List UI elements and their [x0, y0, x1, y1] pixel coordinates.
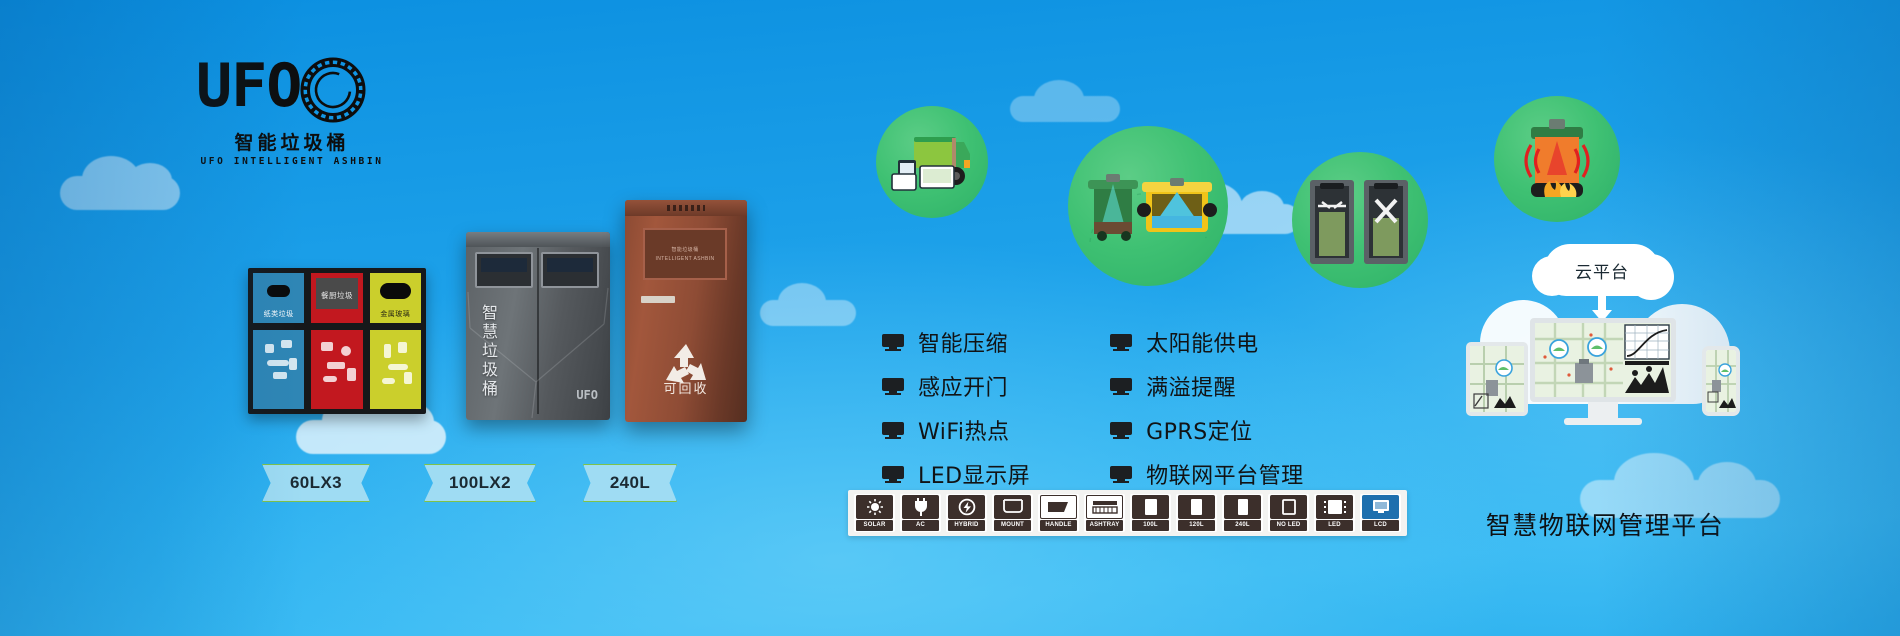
spec-icon-label: LED [1316, 520, 1353, 531]
feature-item: 智能压缩 [882, 326, 1030, 358]
capacity-120l-icon [1178, 495, 1215, 519]
feature-label: 太阳能供电 [1146, 326, 1259, 358]
feature-column-1: 智能压缩 感应开门 WiFi热点 LED显示屏 [882, 326, 1030, 490]
ac-plug-icon [902, 495, 939, 519]
compartment-label: 餐厨垃圾 [316, 290, 357, 301]
feature-item: LED显示屏 [882, 458, 1030, 490]
cloud-decoration [760, 300, 856, 326]
spec-icon-lcd[interactable]: LCD [1360, 494, 1401, 532]
feature-label: 智能压缩 [918, 326, 1008, 358]
logo-chinese-name: 智能垃圾桶 [196, 128, 388, 155]
fill-level-sensor-icon [1068, 126, 1228, 286]
monitor-bullet-icon [882, 466, 904, 483]
capacity-label-240l: 240L [583, 464, 677, 502]
feature-list: 智能压缩 感应开门 WiFi热点 LED显示屏 太阳能供电 满溢提醒 [882, 326, 1304, 490]
bin-slot-oval [267, 285, 290, 297]
bin-brand-mark: UFO [576, 388, 598, 402]
cloud-decoration [296, 420, 446, 454]
wall-mount-icon [994, 495, 1031, 519]
compartment-label: 纸类垃圾 [253, 309, 304, 319]
spec-icon-mount[interactable]: MOUNT [992, 494, 1033, 532]
feature-item: 满溢提醒 [1110, 370, 1304, 402]
compartment-label: 金属玻璃 [370, 309, 421, 319]
spec-icon-label: AC [902, 520, 939, 531]
feature-item: 物联网平台管理 [1110, 458, 1304, 490]
lcd-screen-icon [1362, 495, 1399, 519]
triple-recycling-bin: 纸类垃圾 餐厨垃圾 [248, 268, 426, 414]
spec-icon-label: 100L [1132, 520, 1169, 531]
spec-icon-hybrid[interactable]: HYBRID [946, 494, 987, 532]
cloud-platform-label: 云平台 [1544, 244, 1660, 296]
feature-item: 感应开门 [882, 370, 1030, 402]
fire-alarm-icon [1494, 96, 1620, 222]
spec-icon-no-led[interactable]: NO LED [1268, 494, 1309, 532]
spec-icon-label: 240L [1224, 520, 1261, 531]
hybrid-power-icon [948, 495, 985, 519]
feature-item: GPRS定位 [1110, 414, 1304, 446]
monitor-bullet-icon [882, 378, 904, 395]
logo-wordmark: UFO [196, 58, 301, 114]
led-screen-icon [1316, 495, 1353, 519]
feature-label: 物联网平台管理 [1146, 458, 1304, 490]
bin-info-panel: 智能垃圾桶 INTELLIGENT ASHBIN [643, 228, 727, 280]
smartphone-device [1702, 346, 1740, 416]
platform-title: 智慧物联网管理平台 [1440, 506, 1770, 542]
spec-icon-handle[interactable]: HANDLE [1038, 494, 1079, 532]
spec-icon-label: SOLAR [856, 520, 893, 531]
bin-lid [625, 200, 747, 216]
feature-circle-compaction [1292, 152, 1428, 288]
spec-icon-240l[interactable]: 240L [1222, 494, 1263, 532]
logo-english-name: UFO INTELLIGENT ASHBIN [196, 156, 388, 167]
feature-label: LED显示屏 [918, 458, 1030, 490]
compaction-unit-icon [1292, 152, 1428, 288]
monitor-stand [1588, 402, 1618, 418]
monitor-bullet-icon [882, 422, 904, 439]
spec-icon-label: NO LED [1270, 520, 1307, 531]
monitor-bullet-icon [1110, 378, 1132, 395]
monitor-base [1564, 418, 1642, 425]
monitor-bullet-icon [882, 334, 904, 351]
bin-card-slot [641, 296, 675, 303]
spec-icon-label: HYBRID [948, 520, 985, 531]
tablet-device [1466, 342, 1528, 416]
handle-icon [1040, 495, 1077, 519]
spec-icon-label: 120L [1178, 520, 1215, 531]
feature-circle-truck-fleet [876, 106, 988, 218]
brand-logo: UFO 智能垃圾桶 UFO INTELLIGENT ASHBIN [196, 58, 406, 152]
product-banner: UFO 智能垃圾桶 UFO INTELLIGENT ASHBIN [0, 0, 1900, 636]
feature-label: 感应开门 [918, 370, 1008, 402]
ashtray-icon [1086, 495, 1123, 519]
capacity-100l-icon [1132, 495, 1169, 519]
monitor-screen [1530, 318, 1676, 402]
monitor-bullet-icon [1110, 466, 1132, 483]
feature-circle-fill-level [1068, 126, 1228, 286]
garbage-truck-fleet-icon [876, 106, 988, 218]
monitor-bullet-icon [1110, 422, 1132, 439]
feature-label: 满溢提醒 [1146, 370, 1236, 402]
spec-icon-solar[interactable]: SOLAR [854, 494, 895, 532]
iot-platform-illustration: 云平台 [1452, 238, 1752, 438]
feature-column-2: 太阳能供电 满溢提醒 GPRS定位 物联网平台管理 [1110, 326, 1304, 490]
recycle-label: 可回收 [625, 378, 747, 397]
bin-vertical-label: 智慧垃圾桶 [482, 304, 504, 399]
spec-icon-strip: SOLAR AC HYBRID [848, 490, 1407, 536]
ring-o-icon [299, 56, 367, 124]
bin-slot-cloud [380, 283, 411, 299]
no-led-icon [1270, 495, 1307, 519]
cloud-decoration [1010, 96, 1120, 122]
double-smart-bin: 智慧垃圾桶 UFO [466, 232, 610, 420]
spec-icon-ac[interactable]: AC [900, 494, 941, 532]
capacity-240l-icon [1224, 495, 1261, 519]
panel-line-2: INTELLIGENT ASHBIN [655, 256, 714, 262]
spec-icon-ashtray[interactable]: ASHTRAY [1084, 494, 1125, 532]
spec-icon-led[interactable]: LED [1314, 494, 1355, 532]
spec-icon-label: ASHTRAY [1086, 520, 1123, 531]
spec-icon-100l[interactable]: 100L [1130, 494, 1171, 532]
bin-compartment-kitchen: 餐厨垃圾 [309, 271, 364, 411]
feature-label: WiFi热点 [918, 414, 1010, 446]
capacity-label-100lx2: 100LX2 [424, 464, 536, 502]
bin-compartment-paper: 纸类垃圾 [251, 271, 306, 411]
spec-icon-label: HANDLE [1040, 520, 1077, 531]
capacity-label-60lx3: 60LX3 [262, 464, 370, 502]
cloud-decoration [60, 176, 180, 210]
solar-panel-icon [856, 495, 893, 519]
bin-window: 餐厨垃圾 [316, 278, 357, 309]
feature-item: 太阳能供电 [1110, 326, 1304, 358]
feature-item: WiFi热点 [882, 414, 1030, 446]
bin-compartment-metal-glass: 金属玻璃 [368, 271, 423, 411]
feature-circle-fire-alarm [1494, 96, 1620, 222]
spec-icon-120l[interactable]: 120L [1176, 494, 1217, 532]
monitor-bullet-icon [1110, 334, 1132, 351]
spec-icon-label: MOUNT [994, 520, 1031, 531]
brown-recycling-bin: 智能垃圾桶 INTELLIGENT ASHBIN 可回收 [625, 200, 747, 422]
spec-icon-label: LCD [1362, 520, 1399, 531]
feature-label: GPRS定位 [1146, 414, 1253, 446]
panel-line-1: 智能垃圾桶 [671, 246, 698, 253]
desktop-monitor [1530, 318, 1676, 425]
